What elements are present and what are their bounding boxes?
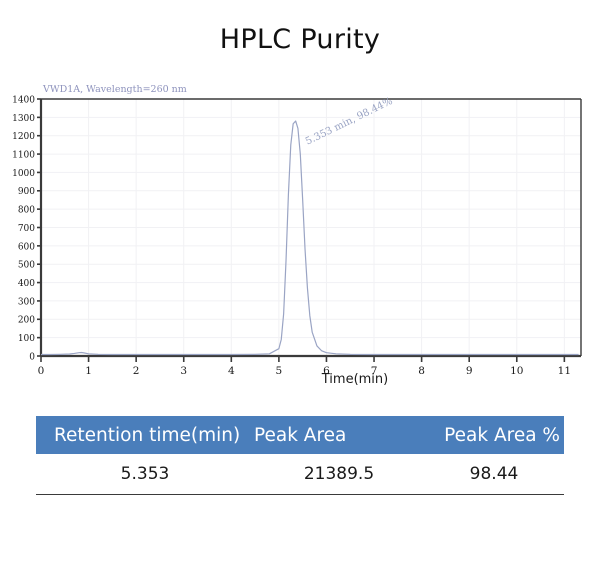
y-tick-label: 1000 [12, 169, 35, 179]
x-tick-label: 3 [180, 365, 187, 377]
x-tick-label: 9 [466, 365, 473, 377]
table-header-row: Retention time(min) Peak Area Peak Area … [36, 416, 564, 454]
table-header-retention-time: Retention time(min) [36, 425, 254, 446]
y-tick-label: 500 [18, 261, 35, 271]
y-tick-label: 1300 [12, 114, 35, 124]
x-axis-title: Time(min) [321, 372, 388, 387]
table-row: 5.353 21389.5 98.44 [36, 454, 564, 495]
y-tick-label: 800 [18, 206, 35, 216]
cell-retention-time: 5.353 [36, 464, 254, 484]
x-tick-label: 2 [133, 365, 140, 377]
x-tick-label: 8 [418, 365, 425, 377]
y-tick-label: 1100 [12, 150, 35, 160]
peak-annotation-label: 5.353 min, 98.44% [304, 96, 395, 148]
y-tick-label: 200 [18, 316, 35, 326]
y-tick-label: 600 [18, 242, 35, 252]
cell-peak-area: 21389.5 [254, 464, 424, 484]
results-table: Retention time(min) Peak Area Peak Area … [36, 416, 564, 495]
y-tick-label: 1400 [12, 95, 35, 105]
y-tick-label: 1200 [12, 132, 35, 142]
x-tick-label: 4 [228, 365, 235, 377]
y-axis-tick-labels: 0100200300400500600700800900100011001200… [12, 95, 35, 362]
x-tick-label: 11 [558, 365, 571, 377]
table-header-peak-area-percent: Peak Area % [424, 425, 564, 446]
y-tick-label: 100 [18, 334, 35, 344]
detector-legend-label: VWD1A, Wavelength=260 nm [42, 84, 187, 95]
y-tick-label: 0 [29, 352, 35, 362]
y-tick-label: 300 [18, 297, 35, 307]
chromatogram-svg: 0100200300400500600700800900100011001200… [0, 78, 600, 398]
page-title: HPLC Purity [0, 24, 600, 55]
x-tick-label: 5 [276, 365, 283, 377]
x-tick-label: 1 [85, 365, 92, 377]
y-tick-label: 900 [18, 187, 35, 197]
x-axis-tick-labels: 01234567891011 [38, 365, 571, 377]
chromatogram-chart: 0100200300400500600700800900100011001200… [0, 78, 600, 398]
x-tick-label: 0 [38, 365, 45, 377]
table-header-peak-area: Peak Area [254, 425, 424, 446]
y-tick-label: 400 [18, 279, 35, 289]
cell-peak-area-percent: 98.44 [424, 464, 564, 484]
y-tick-label: 700 [18, 224, 35, 234]
x-tick-label: 10 [510, 365, 523, 377]
